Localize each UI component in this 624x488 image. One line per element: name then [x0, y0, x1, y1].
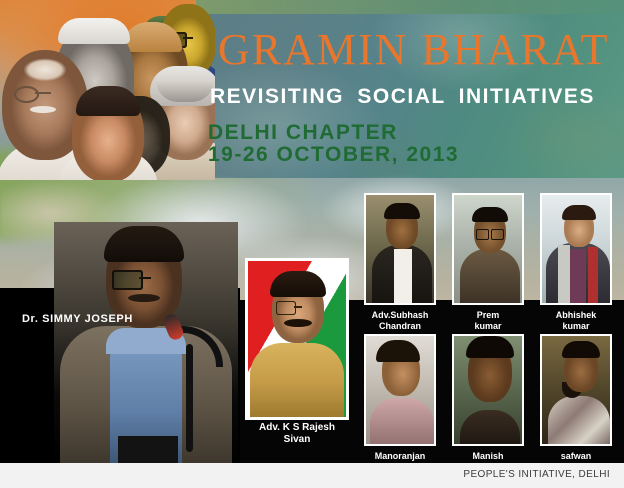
portrait-abhishek-kumar — [542, 195, 610, 303]
microphone-stem — [186, 344, 193, 452]
grid-item-manish-arya: Manish Arya — [452, 334, 530, 473]
grid-caption: Adv.Subhash Chandran — [364, 310, 436, 332]
caption-line1: safwan — [540, 451, 612, 462]
center-portrait-name-line2: Sivan — [245, 434, 349, 446]
caption-line1: Manish — [452, 451, 524, 462]
footer-bar: PEOPLE'S INITIATIVE, DELHI — [0, 463, 624, 488]
portrait-manish-arya — [454, 336, 522, 444]
podium — [118, 436, 178, 463]
grid-item-prem-kumar: Prem kumar — [452, 193, 530, 332]
indian-leaders-collage — [0, 0, 215, 180]
photo-frame — [452, 334, 524, 446]
photo-frame — [540, 334, 612, 446]
chapter-label: DELHI CHAPTER — [208, 122, 398, 144]
photo-frame — [364, 193, 436, 305]
center-portrait-name-line1: Adv. K S Rajesh — [245, 422, 349, 434]
caption-line1: Abhishek — [540, 310, 612, 321]
center-portrait-shirt — [250, 343, 344, 417]
indira-hair — [150, 66, 215, 106]
speaker-moustache — [128, 294, 160, 302]
portrait-manoranjan-mahapatra — [366, 336, 434, 444]
caption-line1: Prem — [452, 310, 524, 321]
top-green-strip — [196, 0, 624, 14]
center-portrait-glasses-icon — [276, 301, 320, 313]
photo-frame — [540, 193, 612, 305]
poster-title: GRAMIN BHARAT — [218, 28, 618, 72]
center-portrait-moustache — [284, 319, 312, 327]
grid-item-manoranjan-mahapatra: Manoranjan Mahapatra — [364, 334, 442, 473]
event-poster: GRAMIN BHARAT REVISITING SOCIAL INITIATI… — [0, 0, 624, 488]
caption-line1: Adv.Subhash — [364, 310, 436, 321]
speaker-name-label: Dr. SIMMY JOSEPH — [22, 313, 133, 325]
caption-line1: Manoranjan — [364, 451, 436, 462]
caption-line2: kumar — [452, 321, 524, 332]
center-portrait-photo — [245, 258, 349, 420]
center-portrait-inner — [248, 261, 346, 417]
photo-frame — [364, 334, 436, 446]
speaker-hair — [104, 226, 184, 262]
speaker-photo-grid: Adv.Subhash Chandran Prem kumar — [364, 193, 616, 459]
photo-frame — [452, 193, 524, 305]
event-dates: 19-26 OCTOBER, 2013 — [208, 144, 459, 166]
nehru-gandhi-cap — [58, 18, 130, 44]
footer-credit: PEOPLE'S INITIATIVE, DELHI — [463, 469, 610, 480]
portrait-prem-kumar — [454, 195, 522, 303]
portrait-subhash-chandran — [366, 195, 434, 303]
poster-subtitle: REVISITING SOCIAL INITIATIVES — [210, 85, 620, 108]
portrait-safwan-cholayil — [542, 336, 610, 444]
speaker-podium-photo — [54, 222, 238, 463]
grid-item-abhishek-kumar: Abhishek kumar — [540, 193, 618, 332]
caption-line2: Chandran — [364, 321, 436, 332]
center-portrait-name: Adv. K S Rajesh Sivan — [245, 422, 349, 446]
caption-line2: kumar — [540, 321, 612, 332]
center-portrait-hair — [270, 271, 326, 297]
speaker-glasses-icon — [112, 270, 178, 286]
gandhi-moustache — [30, 106, 56, 113]
gandhi-glasses-icon — [14, 86, 72, 99]
grid-item-subhash-chandran: Adv.Subhash Chandran — [364, 193, 442, 332]
prem-glasses-icon — [476, 229, 504, 238]
grid-caption: Abhishek kumar — [540, 310, 612, 332]
grid-item-safwan-cholayil: safwan cholayil — [540, 334, 618, 473]
grid-caption: Prem kumar — [452, 310, 524, 332]
